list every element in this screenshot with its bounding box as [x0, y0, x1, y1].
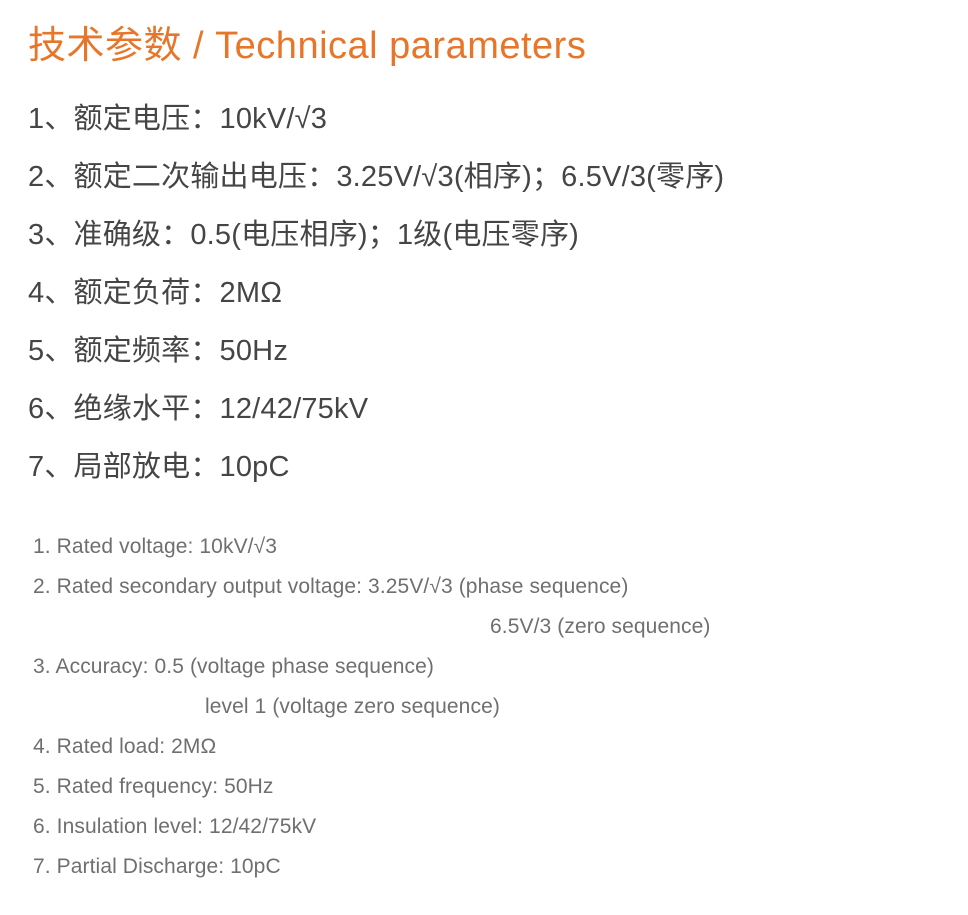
parameter-item-cn-3: 3、准确级：0.5(电压相序)；1级(电压零序)	[28, 206, 958, 264]
parameter-item-cn-1: 1、额定电压：10kV/√3	[28, 90, 958, 148]
technical-parameters-page: 技术参数 / Technical parameters 1、额定电压：10kV/…	[0, 0, 968, 915]
parameter-item-en-2: 2. Rated secondary output voltage: 3.25V…	[33, 567, 963, 607]
parameter-item-cn-5: 5、额定频率：50Hz	[28, 322, 958, 380]
english-parameter-list: 1. Rated voltage: 10kV/√3 2. Rated secon…	[33, 527, 963, 887]
chinese-parameter-list: 1、额定电压：10kV/√3 2、额定二次输出电压：3.25V/√3(相序)；6…	[28, 90, 958, 496]
parameter-item-en-2-continuation: 6.5V/3 (zero sequence)	[33, 607, 963, 647]
parameter-item-en-1: 1. Rated voltage: 10kV/√3	[33, 527, 963, 567]
parameter-item-en-4: 4. Rated load: 2MΩ	[33, 727, 963, 767]
parameter-item-cn-2: 2、额定二次输出电压：3.25V/√3(相序)；6.5V/3(零序)	[28, 148, 958, 206]
parameter-item-en-3-continuation: level 1 (voltage zero sequence)	[33, 687, 963, 727]
parameter-item-en-5: 5. Rated frequency: 50Hz	[33, 767, 963, 807]
parameter-item-cn-4: 4、额定负荷：2MΩ	[28, 264, 958, 322]
parameter-item-cn-7: 7、局部放电：10pC	[28, 438, 958, 496]
page-title: 技术参数 / Technical parameters	[28, 22, 586, 70]
parameter-item-en-3: 3. Accuracy: 0.5 (voltage phase sequence…	[33, 647, 963, 687]
parameter-item-en-6: 6. Insulation level: 12/42/75kV	[33, 807, 963, 847]
parameter-item-cn-6: 6、绝缘水平：12/42/75kV	[28, 380, 958, 438]
parameter-item-en-7: 7. Partial Discharge: 10pC	[33, 847, 963, 887]
